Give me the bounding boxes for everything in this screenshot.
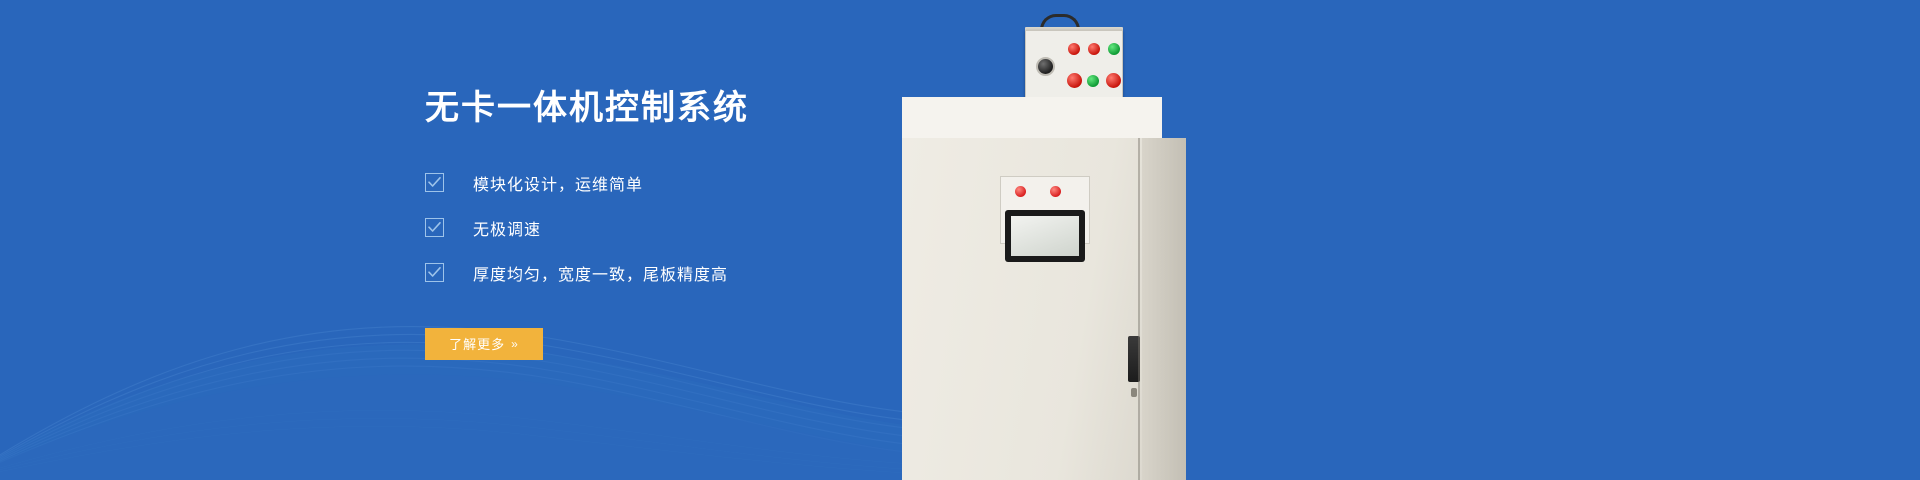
hmi-screen-surface <box>1011 216 1079 256</box>
control-panel <box>1025 30 1123 100</box>
chevron-right-icon: » <box>511 337 519 351</box>
door-lock-icon[interactable] <box>1131 388 1137 397</box>
hmi-led-red-1[interactable] <box>1015 186 1026 197</box>
hmi-touchscreen[interactable] <box>1005 210 1085 262</box>
cabinet-top-slab <box>902 97 1162 141</box>
learn-more-button[interactable]: 了解更多 » <box>425 328 543 360</box>
checkbox-check-icon <box>425 263 444 282</box>
indicator-green-1[interactable] <box>1108 43 1120 55</box>
selector-knob-icon[interactable] <box>1036 57 1055 76</box>
indicator-red-4[interactable] <box>1106 73 1121 88</box>
hmi-led-red-2[interactable] <box>1050 186 1061 197</box>
checkbox-check-icon <box>425 173 444 192</box>
indicator-green-2[interactable] <box>1087 75 1099 87</box>
hero-banner: 无卡一体机控制系统 模块化设计，运维简单 无极调速 <box>0 0 1920 480</box>
learn-more-label: 了解更多 <box>449 334 505 353</box>
feature-label: 厚度均匀，宽度一致，尾板精度高 <box>473 261 728 285</box>
cabinet-side-edge <box>1142 138 1186 480</box>
indicator-red-1[interactable] <box>1068 43 1080 55</box>
feature-label: 模块化设计，运维简单 <box>473 171 643 195</box>
checkbox-check-icon <box>425 218 444 237</box>
feature-label: 无极调速 <box>473 216 541 240</box>
indicator-red-2[interactable] <box>1088 43 1100 55</box>
cabinet-door-seam <box>1138 138 1140 480</box>
product-image <box>880 0 1220 480</box>
indicator-red-3[interactable] <box>1067 73 1082 88</box>
